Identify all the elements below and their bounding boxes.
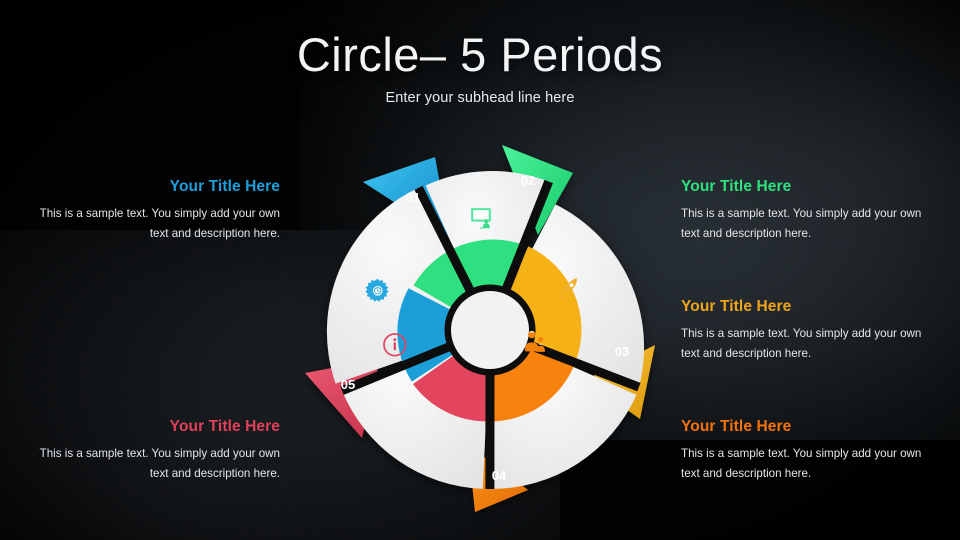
text-block-05[interactable]: Your Title Here This is a sample text. Y… [30,418,280,484]
slide-canvas: Circle– 5 Periods Enter your subhead lin… [0,0,960,540]
text-block-01[interactable]: Your Title Here This is a sample text. Y… [30,178,280,244]
block-title-03: Your Title Here [681,298,931,315]
pinwheel-diagram: 01 02 03 04 05 [300,140,680,520]
segment-number-02: 02 [521,173,535,188]
block-description-03: This is a sample text. You simply add yo… [681,324,931,364]
segment-number-05: 05 [341,377,355,392]
block-title-04: Your Title Here [681,418,931,435]
block-description-05: This is a sample text. You simply add yo… [30,444,280,484]
block-title-01: Your Title Here [30,178,280,195]
page-title: Circle– 5 Periods [0,30,960,80]
text-block-02[interactable]: Your Title Here This is a sample text. Y… [681,178,931,244]
block-description-04: This is a sample text. You simply add yo… [681,444,931,484]
text-block-04[interactable]: Your Title Here This is a sample text. Y… [681,418,931,484]
block-title-05: Your Title Here [30,418,280,435]
segment-number-04: 04 [492,468,507,483]
segment-number-01: 01 [406,190,420,205]
block-description-01: This is a sample text. You simply add yo… [30,204,280,244]
block-description-02: This is a sample text. You simply add yo… [681,204,931,244]
slide-header: Circle– 5 Periods Enter your subhead lin… [0,30,960,106]
page-subhead: Enter your subhead line here [0,90,960,106]
block-title-02: Your Title Here [681,178,931,195]
segment-number-03: 03 [615,344,629,359]
text-block-03[interactable]: Your Title Here This is a sample text. Y… [681,298,931,364]
hub-circle[interactable] [451,291,529,369]
